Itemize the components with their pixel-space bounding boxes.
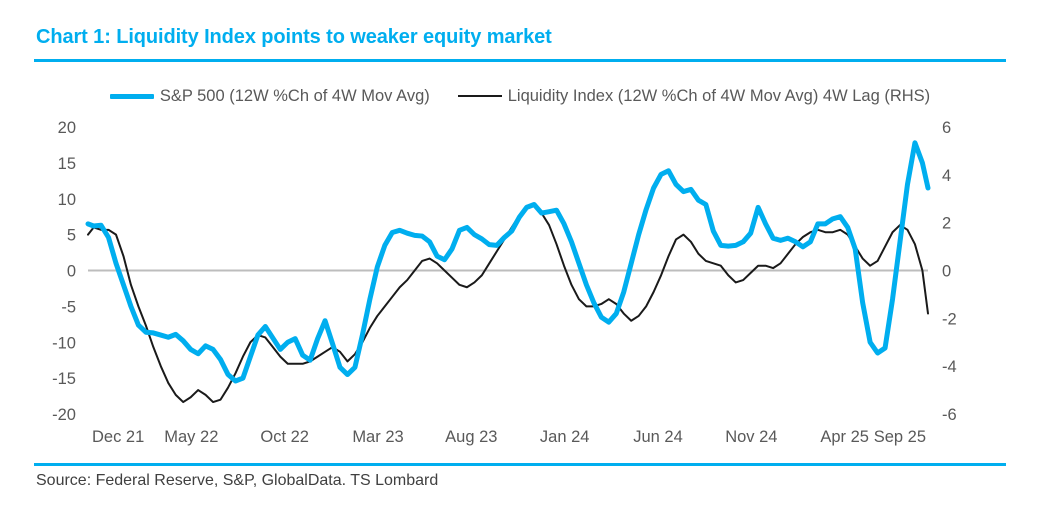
svg-text:-20: -20 — [52, 406, 76, 424]
svg-text:0: 0 — [942, 263, 951, 281]
footer-divider — [34, 463, 1006, 466]
svg-text:May 22: May 22 — [164, 428, 218, 446]
plot-area: 20151050-5-10-15-20 6420-2-4-6 Dec 21May… — [0, 0, 1041, 515]
svg-text:Dec 21: Dec 21 — [92, 428, 144, 446]
chart-canvas: 20151050-5-10-15-20 6420-2-4-6 Dec 21May… — [0, 0, 1041, 515]
svg-text:-10: -10 — [52, 334, 76, 352]
series-lines — [88, 143, 928, 402]
svg-text:15: 15 — [58, 155, 76, 173]
svg-text:6: 6 — [942, 119, 951, 137]
svg-text:Jan 24: Jan 24 — [540, 428, 590, 446]
svg-text:4: 4 — [942, 167, 951, 185]
svg-text:Apr 25: Apr 25 — [820, 428, 869, 446]
svg-text:Nov 24: Nov 24 — [725, 428, 777, 446]
svg-text:0: 0 — [67, 263, 76, 281]
svg-text:Oct 22: Oct 22 — [260, 428, 309, 446]
left-axis-ticks: 20151050-5-10-15-20 — [52, 119, 76, 424]
svg-text:Aug 23: Aug 23 — [445, 428, 497, 446]
svg-text:Sep 25: Sep 25 — [874, 428, 926, 446]
svg-text:-15: -15 — [52, 370, 76, 388]
svg-text:20: 20 — [58, 119, 76, 137]
x-axis-ticks: Dec 21May 22Oct 22Mar 23Aug 23Jan 24Jun … — [92, 428, 926, 446]
svg-text:10: 10 — [58, 191, 76, 209]
svg-text:Jun 24: Jun 24 — [633, 428, 683, 446]
right-axis-ticks: 6420-2-4-6 — [942, 119, 957, 424]
svg-text:2: 2 — [942, 215, 951, 233]
svg-text:-4: -4 — [942, 358, 957, 376]
svg-text:5: 5 — [67, 227, 76, 245]
svg-text:-6: -6 — [942, 406, 957, 424]
source-note: Source: Federal Reserve, S&P, GlobalData… — [36, 472, 438, 490]
svg-text:-2: -2 — [942, 310, 957, 328]
svg-text:-5: -5 — [61, 298, 76, 316]
chart-root: Chart 1: Liquidity Index points to weake… — [0, 0, 1041, 515]
svg-text:Mar 23: Mar 23 — [352, 428, 403, 446]
